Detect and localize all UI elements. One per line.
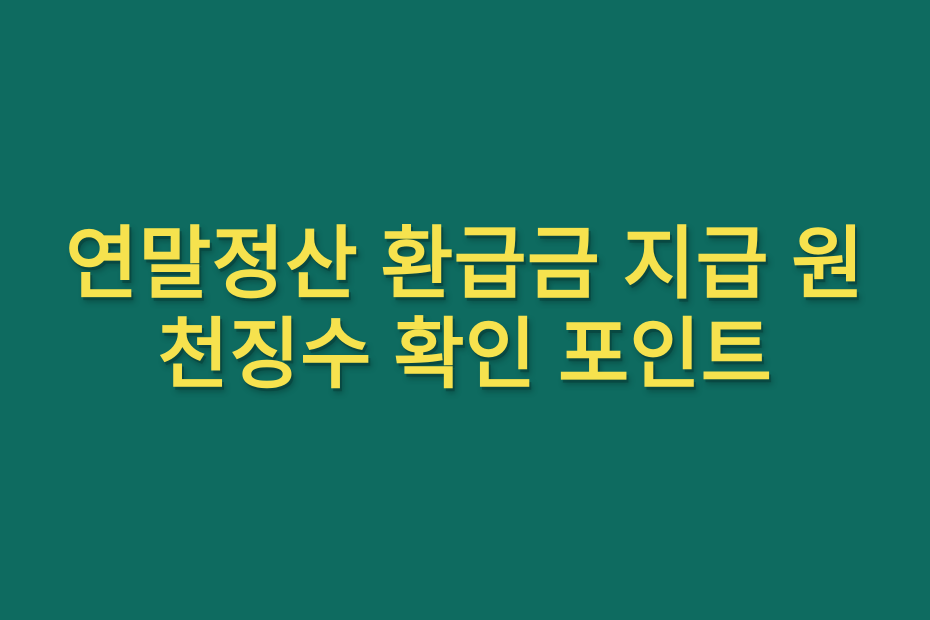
thumbnail-canvas: 연말정산 환급금 지급 원 천징수 확인 포인트: [0, 0, 930, 620]
headline-line-1: 연말정산 환급금 지급 원: [24, 217, 906, 310]
headline-block: 연말정산 환급금 지급 원 천징수 확인 포인트: [0, 217, 930, 401]
headline-line-2: 천징수 확인 포인트: [24, 310, 906, 401]
